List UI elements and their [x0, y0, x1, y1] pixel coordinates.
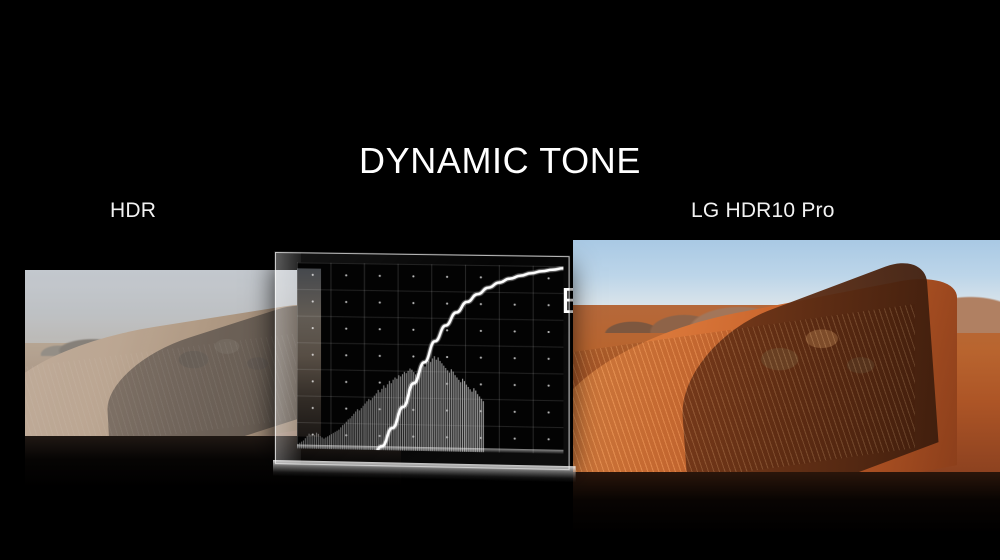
page-title-line-1: DYNAMIC TONE: [0, 138, 1000, 185]
slide-canvas: DYNAMIC TONE MAPPING EXPERTISE HDR LG HD…: [0, 0, 1000, 560]
image-lg-hdr10-pro-sample: [573, 240, 1000, 472]
tone-curve-plot: [297, 262, 563, 454]
caption-lg-hdr10-pro: LG HDR10 Pro: [691, 199, 835, 223]
tone-mapping-curve: [297, 262, 563, 454]
caption-hdr: HDR: [110, 199, 156, 223]
tone-mapping-graph-panel: [275, 252, 570, 470]
reflection-lg-hdr10-pro-sample: [573, 472, 1000, 534]
